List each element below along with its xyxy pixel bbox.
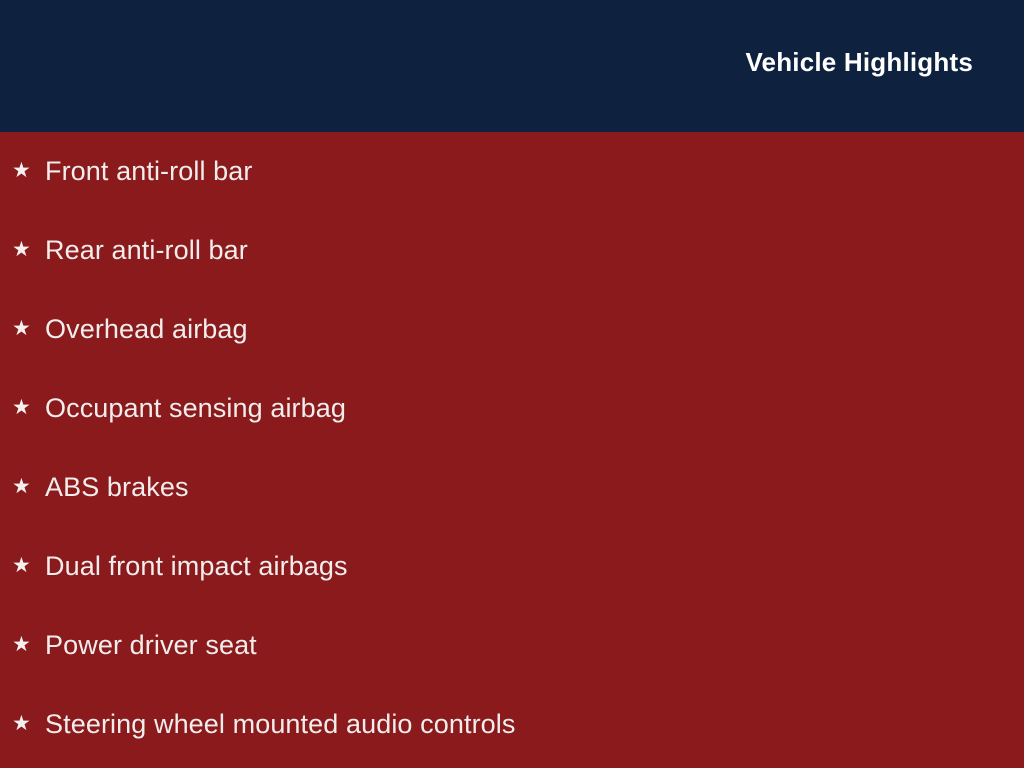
list-item: ★ Power driver seat: [0, 606, 1024, 685]
star-icon: ★: [12, 713, 45, 734]
list-item-label: Front anti-roll bar: [45, 157, 252, 187]
list-item-label: Power driver seat: [45, 631, 257, 661]
vehicle-highlights-list: ★ Front anti-roll bar ★ Rear anti-roll b…: [0, 132, 1024, 764]
star-icon: ★: [12, 318, 45, 339]
list-item: ★ Occupant sensing airbag: [0, 369, 1024, 448]
page-title: Vehicle Highlights: [745, 49, 973, 75]
star-icon: ★: [12, 634, 45, 655]
list-item: ★ Dual front impact airbags: [0, 527, 1024, 606]
list-item: ★ ABS brakes: [0, 448, 1024, 527]
list-item-label: Dual front impact airbags: [45, 552, 348, 582]
list-item: ★ Rear anti-roll bar: [0, 211, 1024, 290]
star-icon: ★: [12, 555, 45, 576]
star-icon: ★: [12, 160, 45, 181]
list-item-label: Steering wheel mounted audio controls: [45, 710, 516, 740]
slide: Vehicle Highlights ★ Front anti-roll bar…: [0, 0, 1024, 768]
star-icon: ★: [12, 476, 45, 497]
list-item-label: Rear anti-roll bar: [45, 236, 248, 266]
list-item-label: Overhead airbag: [45, 315, 248, 345]
list-item: ★ Steering wheel mounted audio controls: [0, 685, 1024, 764]
star-icon: ★: [12, 239, 45, 260]
slide-header: Vehicle Highlights: [0, 0, 1024, 132]
list-item-label: ABS brakes: [45, 473, 189, 503]
slide-body: ★ Front anti-roll bar ★ Rear anti-roll b…: [0, 132, 1024, 768]
star-icon: ★: [12, 397, 45, 418]
list-item-label: Occupant sensing airbag: [45, 394, 346, 424]
list-item: ★ Overhead airbag: [0, 290, 1024, 369]
list-item: ★ Front anti-roll bar: [0, 132, 1024, 211]
